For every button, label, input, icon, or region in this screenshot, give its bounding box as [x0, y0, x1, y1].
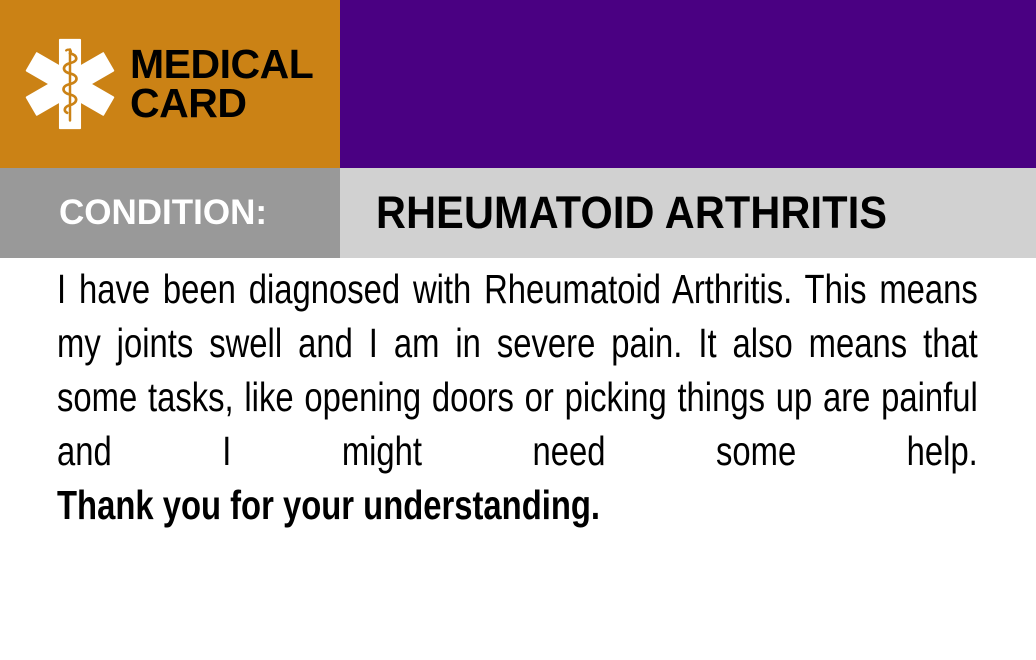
medical-card: MEDICAL CARD CONDITION: RHEUMATOID ARTHR… — [0, 0, 1036, 660]
body-paragraph: I have been diagnosed with Rheumatoid Ar… — [57, 262, 978, 478]
brand-line-1: MEDICAL — [130, 45, 313, 84]
header-accent-block — [340, 0, 1036, 168]
condition-value: RHEUMATOID ARTHRITIS — [376, 187, 887, 239]
brand-block: MEDICAL CARD — [0, 0, 340, 168]
body-closing-line: Thank you for your understanding. — [57, 478, 978, 532]
brand-text: MEDICAL CARD — [130, 45, 313, 124]
condition-value-cell: RHEUMATOID ARTHRITIS — [340, 168, 1036, 258]
body-area: I have been diagnosed with Rheumatoid Ar… — [57, 262, 978, 612]
header-band: MEDICAL CARD — [0, 0, 1036, 168]
condition-band: CONDITION: RHEUMATOID ARTHRITIS — [0, 168, 1036, 258]
star-of-life-icon — [22, 36, 118, 132]
brand-line-2: CARD — [130, 84, 313, 123]
condition-label-cell: CONDITION: — [0, 168, 340, 258]
condition-label: CONDITION: — [59, 193, 267, 233]
